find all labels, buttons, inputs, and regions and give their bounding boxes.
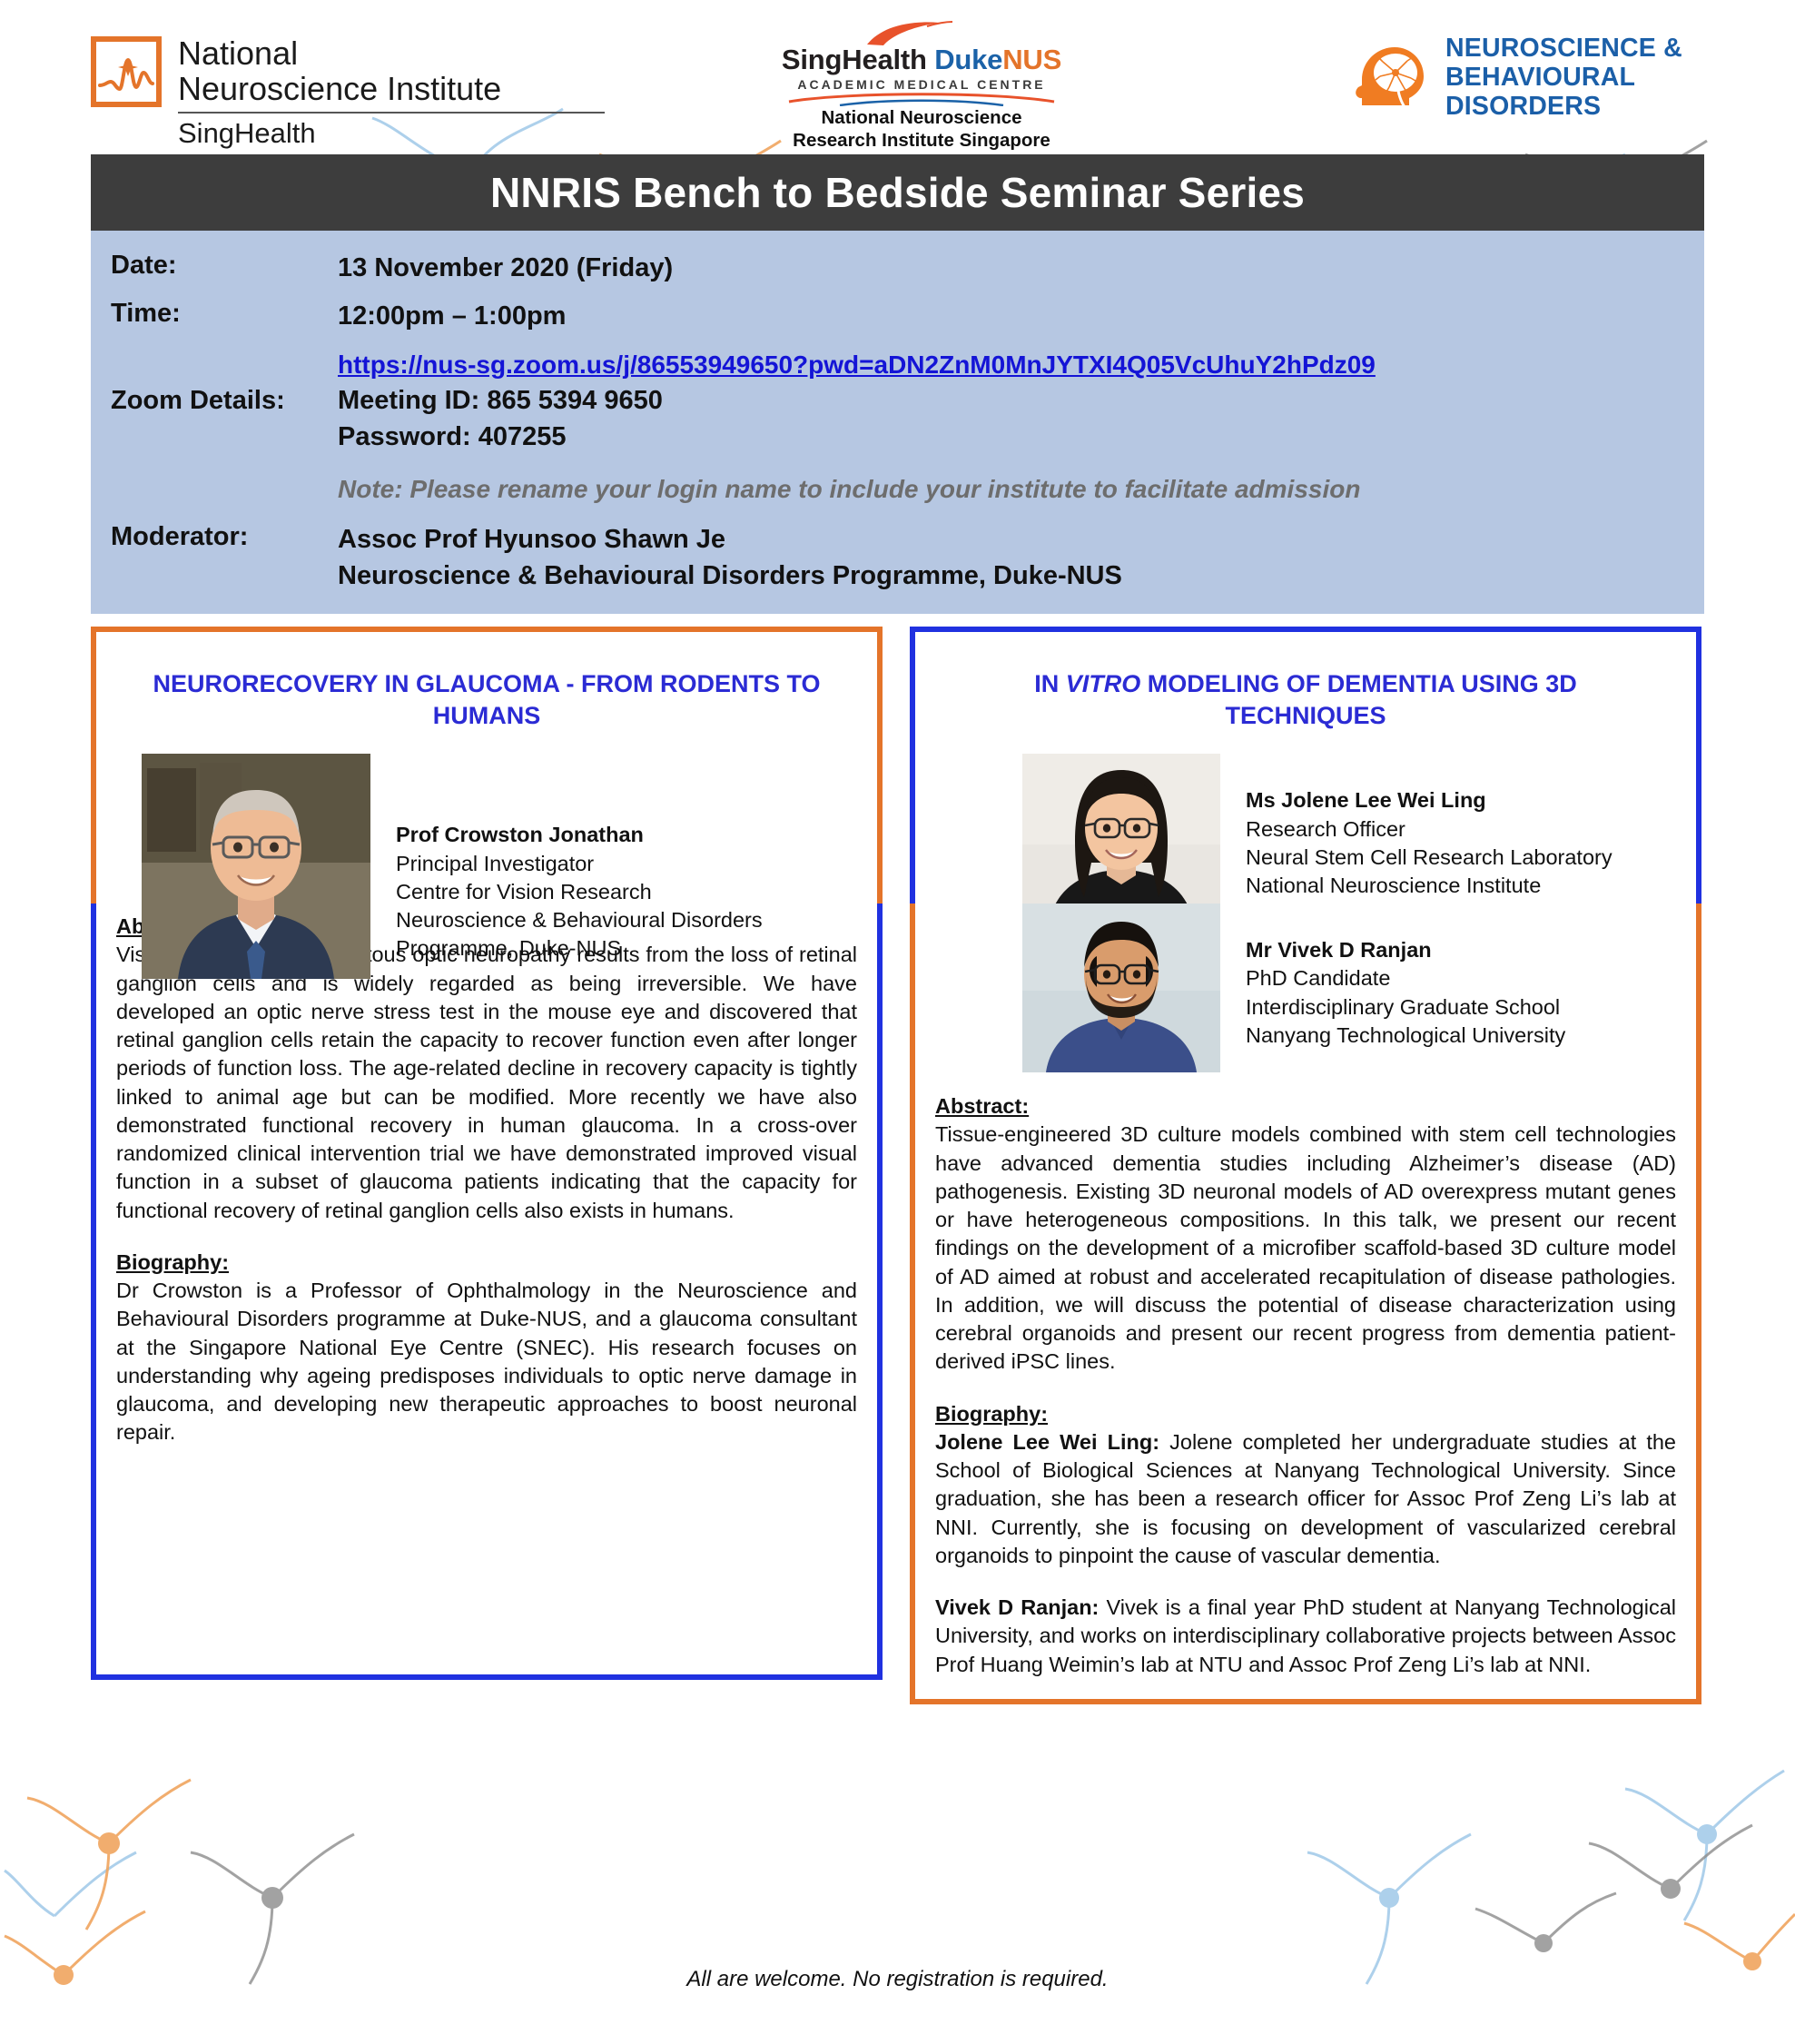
moderator-label: Moderator:	[111, 522, 338, 552]
talk-title-glaucoma: NEURORECOVERY IN GLAUCOMA - FROM RODENTS…	[140, 668, 833, 732]
talk-card-glaucoma-lower: Abstract: Vision loss from glaucomatous …	[91, 904, 883, 1680]
talk-title-dementia-suffix: MODELING OF DEMENTIA USING 3D TECHNIQUES	[1140, 670, 1577, 729]
talk-title-dementia-prefix: IN	[1034, 670, 1066, 697]
speaker-photo-crowston	[142, 754, 370, 979]
speaker-info-vivek: Mr Vivek D Ranjan PhD Candidate Interdis…	[1246, 904, 1565, 1050]
nni-logo-line3: SingHealth	[178, 118, 605, 148]
speaker-name-crowston: Prof Crowston Jonathan	[396, 821, 763, 849]
speaker-role-vivek: PhD Candidate	[1246, 964, 1565, 992]
detail-row-time: Time: 12:00pm – 1:00pm	[91, 299, 1704, 334]
talk-card-dementia: IN VITRO MODELING OF DEMENTIA USING 3D T…	[910, 627, 1701, 1704]
abstract-text-dementia: Tissue-engineered 3D culture models comb…	[935, 1121, 1676, 1376]
nni-logo: National Neuroscience Institute SingHeal…	[91, 36, 605, 148]
zoom-meeting-link[interactable]: https://nus-sg.zoom.us/j/86553949650?pwd…	[338, 351, 1376, 379]
nbd-logo-line1: NEUROSCIENCE &	[1445, 35, 1682, 64]
header-logos: National Neuroscience Institute SingHeal…	[0, 0, 1795, 154]
speaker-org1-vivek: Interdisciplinary Graduate School	[1246, 993, 1565, 1022]
duke-word: Duke	[934, 44, 1002, 75]
nni-logo-rule	[178, 112, 605, 114]
speaker-name-jolene: Ms Jolene Lee Wei Ling	[1246, 786, 1613, 815]
speaker-org2-jolene: National Neuroscience Institute	[1246, 872, 1613, 900]
biography-text-jolene: Jolene Lee Wei Ling: Jolene completed he…	[935, 1428, 1676, 1570]
talk-title-dementia: IN VITRO MODELING OF DEMENTIA USING 3D T…	[959, 668, 1652, 732]
talk-card-dementia-upper: IN VITRO MODELING OF DEMENTIA USING 3D T…	[910, 627, 1701, 904]
seminar-title-bar: NNRIS Bench to Bedside Seminar Series	[91, 154, 1704, 231]
moderator-affiliation: Neuroscience & Behavioural Disorders Pro…	[338, 558, 1122, 594]
nnris-name-line1: National Neuroscience	[758, 107, 1085, 129]
singhealth-dukenus-logo: SingHealth DukeNUS ACADEMIC MEDICAL CENT…	[758, 20, 1085, 152]
detail-row-moderator: Moderator: Assoc Prof Hyunsoo Shawn Je N…	[91, 522, 1704, 594]
biography-lead-jolene: Jolene Lee Wei Ling:	[935, 1430, 1159, 1454]
nbd-logo: NEUROSCIENCE & BEHAVIOURAL DISORDERS	[1353, 35, 1682, 122]
singhealth-arc-icon	[758, 92, 1085, 106]
time-label: Time:	[111, 299, 338, 329]
biography-lead-vivek: Vivek D Ranjan:	[935, 1595, 1099, 1619]
biography-heading-glaucoma: Biography:	[116, 1249, 857, 1277]
detail-row-date: Date: 13 November 2020 (Friday)	[91, 251, 1704, 286]
talks-container: NEURORECOVERY IN GLAUCOMA - FROM RODENTS…	[91, 627, 1704, 1704]
singhealth-dukenus-wordmark: SingHealth DukeNUS	[758, 44, 1085, 76]
abstract-text-glaucoma: Vision loss from glaucomatous optic neur…	[116, 941, 857, 1225]
nni-logo-line2: Neuroscience Institute	[178, 72, 605, 107]
date-label: Date:	[111, 251, 338, 281]
speaker-role-crowston: Principal Investigator	[396, 850, 763, 878]
nus-word: NUS	[1002, 44, 1061, 75]
singhealth-word: SingHealth	[782, 44, 927, 75]
zoom-meeting-id: Meeting ID: 865 5394 9650	[338, 383, 1376, 419]
rename-note: Note: Please rename your login name to i…	[91, 475, 1704, 504]
brain-head-icon	[1353, 40, 1429, 116]
abstract-heading-dementia: Abstract:	[935, 1092, 1676, 1121]
talk-card-dementia-lower: Mr Vivek D Ranjan PhD Candidate Interdis…	[910, 904, 1701, 1704]
speaker-info-crowston: Prof Crowston Jonathan Principal Investi…	[396, 754, 763, 963]
detail-row-zoom: Zoom Details: https://nus-sg.zoom.us/j/8…	[91, 348, 1704, 455]
talk-card-glaucoma-upper: NEURORECOVERY IN GLAUCOMA - FROM RODENTS…	[91, 627, 883, 904]
biography-text-vivek: Vivek D Ranjan: Vivek is a final year Ph…	[935, 1594, 1676, 1679]
footer-note: All are welcome. No registration is requ…	[0, 1967, 1795, 1992]
nbd-logo-line3: DISORDERS	[1445, 93, 1682, 122]
speaker-jolene: Ms Jolene Lee Wei Ling Research Officer …	[1022, 754, 1676, 923]
speaker-info-jolene: Ms Jolene Lee Wei Ling Research Officer …	[1246, 754, 1613, 900]
speaker-org1-jolene: Neural Stem Cell Research Laboratory	[1246, 844, 1613, 872]
moderator-name: Assoc Prof Hyunsoo Shawn Je	[338, 522, 1122, 558]
speaker-role-jolene: Research Officer	[1246, 815, 1613, 844]
time-value: 12:00pm – 1:00pm	[338, 299, 566, 334]
nni-logo-line1: National	[178, 36, 605, 72]
nni-waveform-icon	[91, 36, 162, 107]
nbd-logo-line2: BEHAVIOURAL	[1445, 64, 1682, 93]
speaker-name-vivek: Mr Vivek D Ranjan	[1246, 936, 1565, 964]
zoom-details-label: Zoom Details:	[111, 348, 338, 416]
talk-title-dementia-italic: VITRO	[1066, 670, 1141, 697]
speaker-org2-vivek: Nanyang Technological University	[1246, 1022, 1565, 1050]
academic-medical-centre-text: ACADEMIC MEDICAL CENTRE	[758, 77, 1085, 92]
singhealth-swoosh-icon	[758, 20, 1085, 44]
speaker-org1-crowston: Centre for Vision Research	[396, 878, 763, 906]
speaker-org2-crowston: Neuroscience & Behavioural Disorders	[396, 906, 763, 934]
date-value: 13 November 2020 (Friday)	[338, 251, 673, 286]
biography-text-crowston: Dr Crowston is a Professor of Ophthalmol…	[116, 1277, 857, 1447]
speaker-photo-vivek	[1022, 904, 1220, 1072]
page-title: NNRIS Bench to Bedside Seminar Series	[490, 168, 1305, 217]
speaker-vivek: Mr Vivek D Ranjan PhD Candidate Interdis…	[1022, 904, 1676, 1072]
biography-heading-dementia: Biography:	[935, 1400, 1676, 1428]
speaker-photo-jolene	[1022, 754, 1220, 923]
nnris-name-line2: Research Institute Singapore	[758, 130, 1085, 152]
talk-card-glaucoma: NEURORECOVERY IN GLAUCOMA - FROM RODENTS…	[91, 627, 883, 1680]
event-details-panel: Date: 13 November 2020 (Friday) Time: 12…	[91, 231, 1704, 614]
zoom-password: Password: 407255	[338, 420, 1376, 455]
